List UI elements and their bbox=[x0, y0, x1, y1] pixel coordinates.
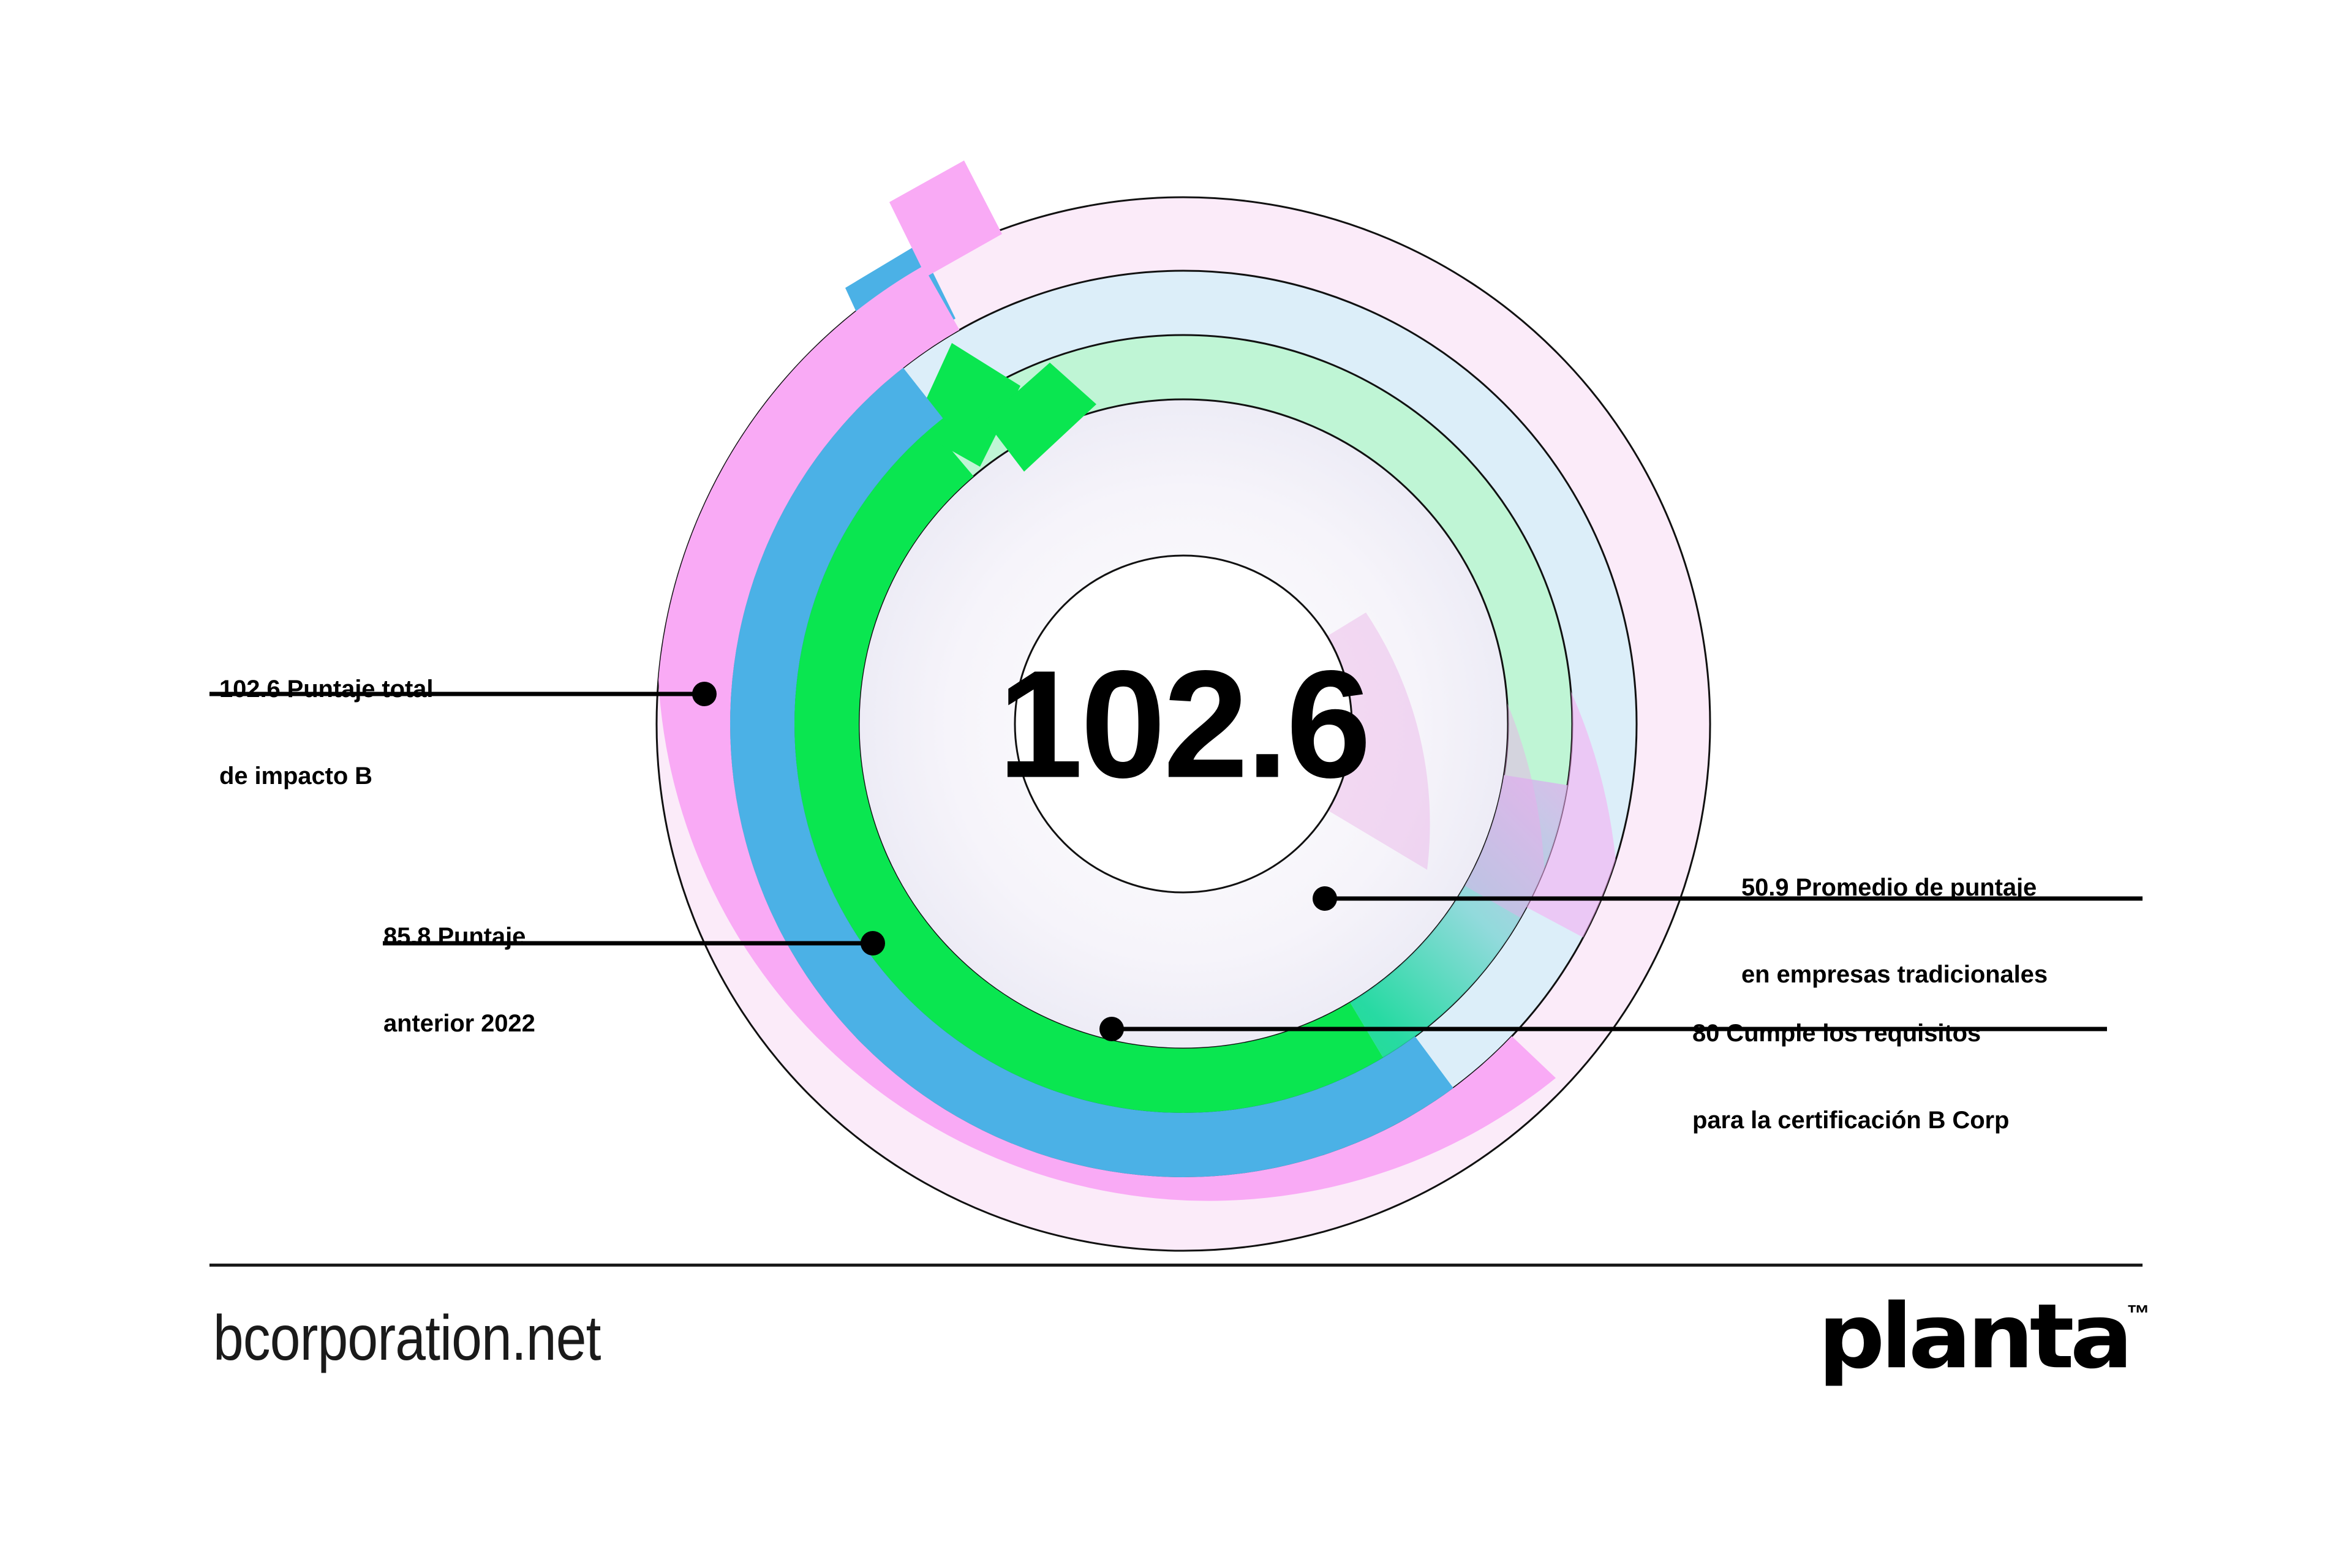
leader-dot-traditional-average bbox=[1313, 886, 1337, 911]
callout-bcorp-threshold: 80 Cumple los requisitos para la certifi… bbox=[1692, 962, 2009, 1193]
center-score-value: 102.6 bbox=[998, 639, 1369, 810]
leader-dot-previous-score bbox=[861, 931, 885, 956]
leader-dot-total-impact bbox=[692, 682, 717, 706]
callout-bcorp-threshold-line1: 80 Cumple los requisitos bbox=[1692, 1019, 2009, 1048]
infographic-canvas: 102.6 102.6 Puntaje total de impacto B 8… bbox=[0, 0, 2352, 1568]
trademark-symbol: ™ bbox=[2127, 1301, 2150, 1327]
callout-previous-score-line2: anterior 2022 bbox=[383, 1009, 535, 1038]
footer-divider bbox=[209, 1264, 2143, 1267]
callout-traditional-average-line1: 50.9 Promedio de puntaje bbox=[1741, 873, 2048, 902]
callout-previous-score-line1: 85.8 Puntaje bbox=[383, 922, 535, 951]
callout-previous-score: 85.8 Puntaje anterior 2022 bbox=[383, 865, 535, 1096]
callout-total-impact-line2: de impacto B bbox=[219, 762, 433, 791]
footer-url[interactable]: bcorporation.net bbox=[213, 1302, 601, 1375]
callout-total-impact-line1: 102.6 Puntaje total bbox=[219, 675, 433, 704]
brand-logo: planta ™ bbox=[1818, 1292, 2150, 1384]
leader-dot-bcorp-threshold bbox=[1099, 1017, 1124, 1041]
callout-total-impact: 102.6 Puntaje total de impacto B bbox=[219, 617, 433, 849]
callout-bcorp-threshold-line2: para la certificación B Corp bbox=[1692, 1106, 2009, 1135]
brand-wordmark: planta bbox=[1818, 1292, 2129, 1382]
